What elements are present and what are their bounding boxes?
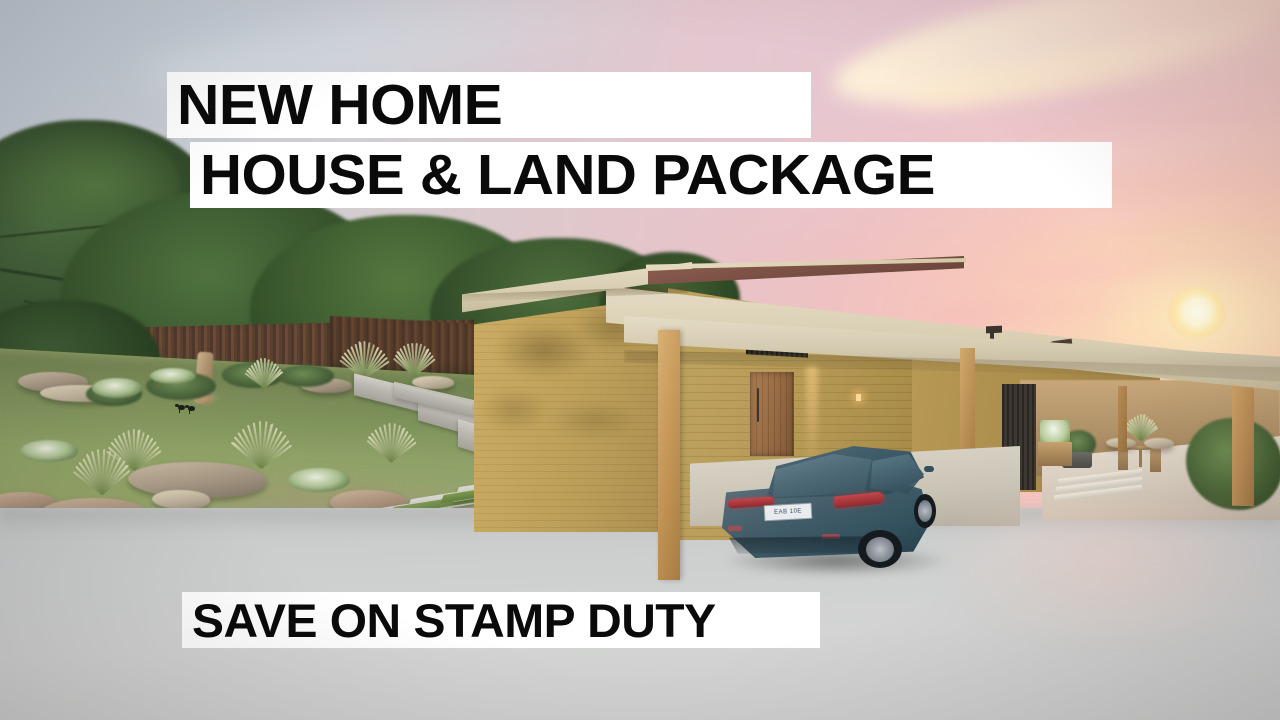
headline-banner-line1: NEW HOME	[167, 72, 811, 138]
ornamental-grass	[232, 420, 290, 468]
timber-planter-box	[1038, 442, 1072, 466]
ornamental-grass	[342, 340, 386, 378]
flowering-shrub	[288, 468, 350, 492]
garden-shrub	[278, 365, 334, 387]
bird	[188, 406, 195, 411]
marketing-image: EAB 10E NEW HOME HOUSE & LAND PACKAGE SA…	[0, 0, 1280, 720]
bird	[178, 405, 185, 410]
ornamental-grass	[246, 358, 282, 388]
headline-line1-text: NEW HOME	[177, 77, 502, 134]
cafe-table-leg	[1139, 449, 1142, 467]
carport-post	[658, 330, 680, 580]
flowering-shrub	[150, 368, 196, 384]
footer-banner: SAVE ON STAMP DUTY	[182, 592, 820, 648]
headline-line2-text: HOUSE & LAND PACKAGE	[200, 147, 935, 204]
driveway-sun-reflection	[940, 500, 1280, 650]
garden-rock	[152, 490, 210, 509]
sun-icon	[1168, 288, 1226, 338]
car-wheel-rim	[918, 500, 932, 522]
footer-text: SAVE ON STAMP DUTY	[192, 597, 716, 644]
car-side-mirror	[924, 466, 934, 472]
wall-light-fixture	[856, 394, 861, 401]
ornamental-grass	[1126, 414, 1156, 440]
timber-post	[1118, 386, 1127, 452]
ornamental-grass	[368, 422, 414, 462]
flowering-shrub	[92, 378, 142, 398]
cafe-chair	[1150, 448, 1161, 472]
ornamental-grass	[394, 342, 434, 376]
flowering-shrub	[20, 440, 78, 462]
car: EAB 10E	[716, 438, 960, 580]
car-wheel-rim	[866, 537, 894, 562]
car-bumper	[726, 536, 876, 554]
headline-banner-line2: HOUSE & LAND PACKAGE	[190, 142, 1112, 208]
door-handle[interactable]	[757, 388, 759, 422]
car-licence-plate: EAB 10E	[764, 503, 813, 521]
car-reflector	[728, 526, 742, 531]
licence-plate-text: EAB 10E	[774, 508, 802, 516]
roof-vent	[986, 326, 1002, 334]
ornamental-grass	[74, 448, 130, 494]
